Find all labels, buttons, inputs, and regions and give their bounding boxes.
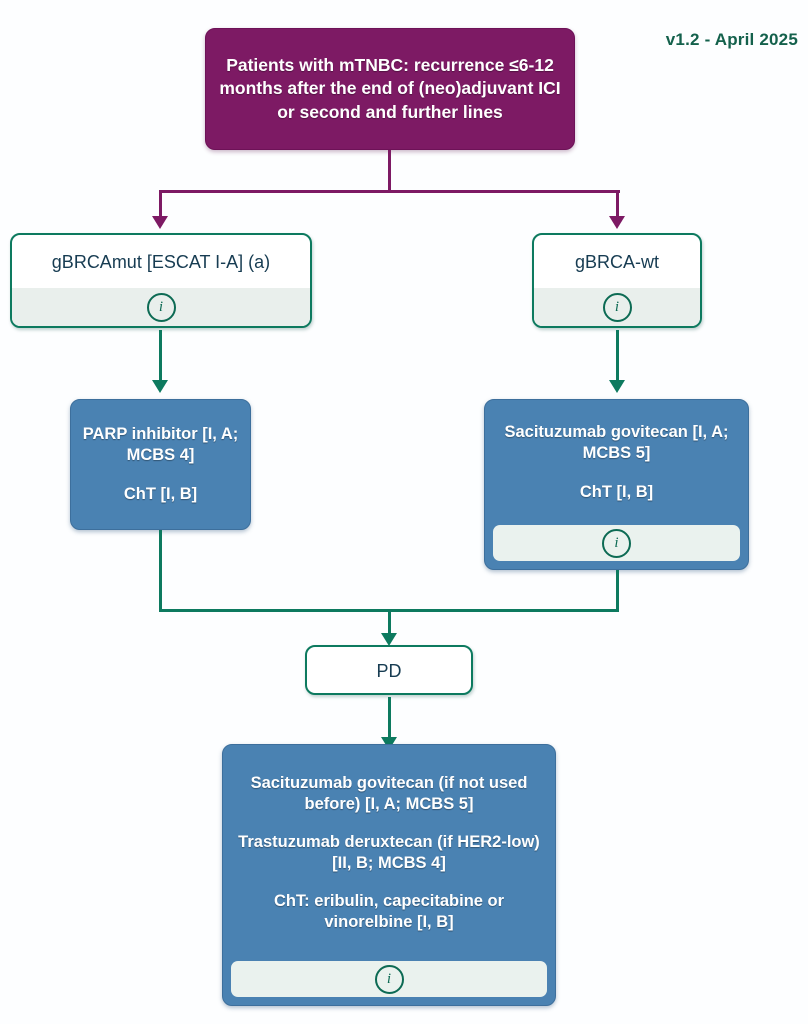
node-gbrca-wt-infobar[interactable]: i <box>534 288 700 326</box>
connector-parp-down <box>159 530 162 612</box>
info-icon[interactable]: i <box>603 293 632 322</box>
node-sacituzumab-govitecan-line1: Sacituzumab govitecan [I, A; MCBS 5] <box>495 422 738 464</box>
node-gbrca-wt-label: gBRCA-wt <box>534 235 700 288</box>
node-later-lines-body: Sacituzumab govitecan (if not used befor… <box>223 745 555 961</box>
node-sacituzumab-govitecan-body: Sacituzumab govitecan [I, A; MCBS 5] ChT… <box>485 400 748 525</box>
connector-merge-to-pd <box>388 609 391 635</box>
connector-gbrcamut-to-parp <box>159 330 162 382</box>
node-parp-inhibitor: PARP inhibitor [I, A; MCBS 4] ChT [I, B] <box>70 399 251 530</box>
arrowhead-header-right <box>609 216 625 229</box>
node-patients-mtnbc: Patients with mTNBC: recurrence ≤6-12 mo… <box>205 28 575 150</box>
node-gbrca-wt[interactable]: gBRCA-wt i <box>532 233 702 328</box>
arrowhead-gbrcamut-to-parp <box>152 380 168 393</box>
algorithm-diagram: v1.2 - April 2025 Patients with mTNBC: r… <box>0 0 808 1024</box>
node-later-lines-infowrap: i <box>223 961 555 1005</box>
node-gbrcamut[interactable]: gBRCAmut [ESCAT I-A] (a) i <box>10 233 312 328</box>
connector-gbrcawt-to-sg <box>616 330 619 382</box>
connector-header-to-left <box>159 190 162 218</box>
node-later-lines-line1: Sacituzumab govitecan (if not used befor… <box>233 773 545 815</box>
node-parp-inhibitor-line1: PARP inhibitor [I, A; MCBS 4] <box>81 424 240 466</box>
node-later-lines-line3: ChT: eribulin, capecitabine or vinorelbi… <box>233 891 545 933</box>
info-icon[interactable]: i <box>602 529 631 558</box>
node-sacituzumab-govitecan[interactable]: Sacituzumab govitecan [I, A; MCBS 5] ChT… <box>484 399 749 570</box>
node-gbrcamut-label: gBRCAmut [ESCAT I-A] (a) <box>12 235 310 288</box>
node-sacituzumab-govitecan-infobar[interactable]: i <box>493 525 740 561</box>
version-label: v1.2 - April 2025 <box>666 30 798 50</box>
info-icon[interactable]: i <box>375 965 404 994</box>
connector-header-bus <box>160 190 620 193</box>
info-icon[interactable]: i <box>147 293 176 322</box>
arrowhead-header-left <box>152 216 168 229</box>
arrowhead-gbrcawt-to-sg <box>609 380 625 393</box>
node-parp-inhibitor-line2: ChT [I, B] <box>124 484 197 505</box>
node-later-lines-infobar[interactable]: i <box>231 961 547 997</box>
node-later-lines-line2: Trastuzumab deruxtecan (if HER2-low) [II… <box>233 832 545 874</box>
node-parp-inhibitor-body: PARP inhibitor [I, A; MCBS 4] ChT [I, B] <box>71 400 250 529</box>
node-sacituzumab-govitecan-line2: ChT [I, B] <box>580 482 653 503</box>
node-sacituzumab-govitecan-infowrap: i <box>485 525 748 569</box>
node-later-lines[interactable]: Sacituzumab govitecan (if not used befor… <box>222 744 556 1006</box>
connector-header-to-right <box>616 190 619 218</box>
node-pd-label: PD <box>307 647 471 693</box>
connector-pd-to-laterlines <box>388 697 391 739</box>
connector-header-stem <box>388 150 391 192</box>
node-pd: PD <box>305 645 473 695</box>
node-gbrcamut-infobar[interactable]: i <box>12 288 310 326</box>
node-patients-mtnbc-text: Patients with mTNBC: recurrence ≤6-12 mo… <box>218 54 562 123</box>
connector-sg-down <box>616 570 619 612</box>
